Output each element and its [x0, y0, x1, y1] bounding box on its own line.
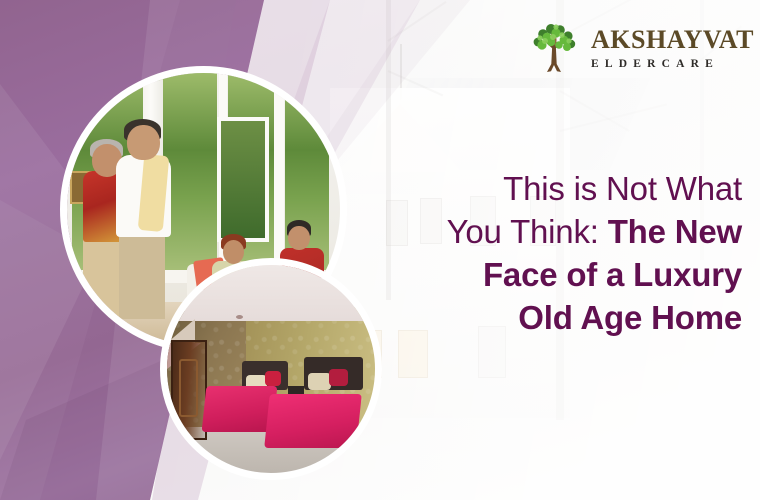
promotional-banner: AKSHAYVAT ELDERCARE This is Not What You… — [0, 0, 760, 500]
tree-with-person-icon — [525, 20, 583, 78]
headline-line-2: You Think: The New — [302, 211, 742, 254]
pillow — [308, 373, 331, 390]
headline: This is Not What You Think: The New Face… — [302, 168, 742, 340]
brand-subtitle: ELDERCARE — [591, 56, 754, 73]
headline-line-2-bold: The New — [608, 213, 742, 250]
brand-name: AKSHAYVAT — [591, 27, 754, 54]
headline-line-2-light: You Think: — [447, 213, 608, 250]
ceiling-panel — [167, 291, 197, 319]
man-trousers — [119, 231, 165, 318]
headline-line-4: Old Age Home — [302, 297, 742, 340]
ceiling-panel — [167, 265, 201, 291]
logo-wordmark: AKSHAYVAT ELDERCARE — [591, 25, 754, 73]
wooden-armoire — [171, 340, 206, 440]
armoire-panel — [179, 359, 198, 416]
glass-door — [217, 117, 269, 243]
man-head — [127, 125, 160, 160]
pillow — [329, 369, 348, 386]
brand-logo[interactable]: AKSHAYVAT ELDERCARE — [525, 18, 745, 80]
headline-line-1: This is Not What — [302, 168, 742, 211]
bed-with-pink-cover — [264, 394, 361, 448]
headline-line-3: Face of a Luxury — [302, 254, 742, 297]
ceiling-spotlight — [236, 315, 243, 319]
pillow — [265, 371, 282, 386]
